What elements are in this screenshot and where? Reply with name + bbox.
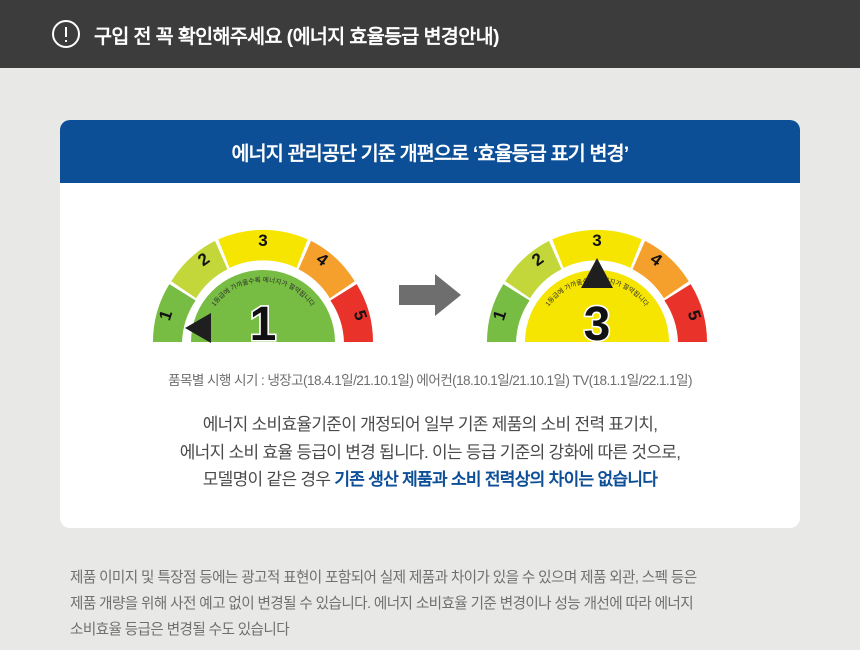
description-line-3-accent: 기존 생산 제품과 소비 전력상의 차이는 없습니다 [334,470,657,489]
page-header: 구입 전 꼭 확인해주세요 (에너지 효율등급 변경안내) [0,0,860,68]
gauge-segment-label-3: 3 [258,231,267,250]
schedule-line: 품목별 시행 시기 : 냉장고(18.4.1일/21.10.1일) 에어컨(18… [60,369,800,389]
card-banner: 에너지 관리공단 기준 개편으로 ‘효율등급 표기 변경’ [60,120,800,183]
footer-line-2: 제품 개량을 위해 사전 예고 없이 변경될 수 있습니다. 에너지 소비효율 … [70,592,788,618]
description-line-1: 에너지 소비효율기준이 개정되어 일부 기존 제품의 소비 전력 표기치, [60,411,800,439]
right-arrow-icon [399,274,461,316]
page-title: 구입 전 꼭 확인해주세요 (에너지 효율등급 변경안내) [94,20,499,49]
card-body: 1 2 3 4 5 1등급에 가까울수록 에너지가 절약됩니다 [60,183,800,528]
footer-line-1: 제품 이미지 및 특장점 등에는 광고적 표현이 포함되어 실제 제품과 차이가… [70,566,788,592]
gauge-grade-value: 3 [584,298,611,346]
card-banner-title: 에너지 관리공단 기준 개편으로 ‘효율등급 표기 변경’ [232,137,629,166]
exclamation-circle-icon [52,20,80,48]
gauge-segment-label-3: 3 [592,231,601,250]
description-line-3-plain: 모델명이 같은 경우 [203,470,335,489]
footer-line-3: 소비효율 등급은 변경될 수도 있습니다 [70,618,788,644]
footer-disclaimer: 제품 이미지 및 특장점 등에는 광고적 표현이 포함되어 실제 제품과 차이가… [70,566,788,644]
description-line-3: 모델명이 같은 경우 기존 생산 제품과 소비 전력상의 차이는 없습니다 [60,466,800,494]
gauge-comparison: 1 2 3 4 5 1등급에 가까울수록 에너지가 절약됩니다 [60,205,800,355]
gauge-grade-value: 1 [250,298,277,346]
description-line-2: 에너지 소비 효율 등급이 변경 됩니다. 이는 등급 기준의 강화에 따른 것… [60,439,800,467]
after-gauge: 1 2 3 4 5 1등급에 가까울수록 에너지가 절약됩니다 3 [479,214,715,346]
card-container: 에너지 관리공단 기준 개편으로 ‘효율등급 표기 변경’ [0,68,860,528]
notice-card: 에너지 관리공단 기준 개편으로 ‘효율등급 표기 변경’ [60,120,800,528]
before-gauge: 1 2 3 4 5 1등급에 가까울수록 에너지가 절약됩니다 [145,214,381,346]
description-block: 에너지 소비효율기준이 개정되어 일부 기존 제품의 소비 전력 표기치, 에너… [60,411,800,494]
